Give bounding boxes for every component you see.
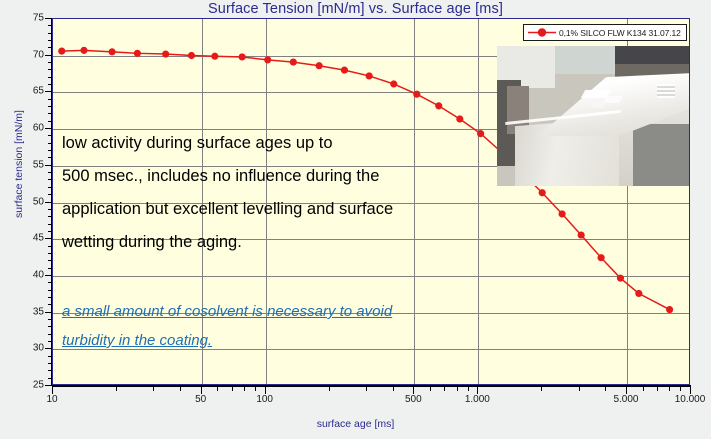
x-tick-mark-minor bbox=[680, 387, 681, 391]
legend-marker-icon bbox=[527, 27, 557, 38]
data-point-marker bbox=[80, 47, 87, 54]
data-point-marker bbox=[290, 58, 297, 65]
x-tick-mark-minor bbox=[468, 387, 469, 391]
y-tick-label: 45 bbox=[18, 233, 44, 244]
annotation-sub-line: turbidity in the coating. bbox=[62, 326, 522, 355]
x-tick-mark-minor bbox=[329, 387, 330, 391]
chart-legend: 0,1% SILCO FLW K134 31.07.12 bbox=[523, 24, 687, 41]
x-tick-mark bbox=[690, 387, 691, 394]
y-tick-mark bbox=[45, 202, 52, 203]
x-axis-spine bbox=[52, 385, 691, 387]
data-point-marker bbox=[435, 102, 442, 109]
data-point-marker bbox=[162, 50, 169, 57]
y-tick-label: 65 bbox=[18, 86, 44, 97]
y-tick-label: 35 bbox=[18, 306, 44, 317]
x-tick-label: 50 bbox=[195, 394, 206, 405]
x-tick-mark-minor bbox=[669, 387, 670, 391]
x-tick-mark bbox=[201, 387, 202, 394]
data-point-marker bbox=[341, 67, 348, 74]
y-tick-mark bbox=[45, 18, 52, 19]
data-point-marker bbox=[134, 50, 141, 57]
x-tick-mark-minor bbox=[116, 387, 117, 391]
data-point-marker bbox=[559, 210, 566, 217]
y-tick-label: 70 bbox=[18, 49, 44, 60]
data-point-marker bbox=[264, 56, 271, 63]
x-tick-mark-minor bbox=[366, 387, 367, 391]
data-point-marker bbox=[239, 53, 246, 60]
x-tick-label: 10.000 bbox=[675, 394, 706, 405]
x-tick-mark-minor bbox=[217, 387, 218, 391]
x-tick-mark bbox=[265, 387, 266, 394]
y-tick-label: 75 bbox=[18, 13, 44, 24]
annotation-sub-line: a small amount of cosolvent is necessary… bbox=[62, 297, 522, 326]
x-tick-mark-minor bbox=[605, 387, 606, 391]
x-tick-mark-minor bbox=[393, 387, 394, 391]
y-tick-mark bbox=[45, 91, 52, 92]
x-tick-mark-minor bbox=[579, 387, 580, 391]
data-point-marker bbox=[58, 48, 65, 55]
y-tick-label: 25 bbox=[18, 380, 44, 391]
y-tick-mark bbox=[45, 312, 52, 313]
x-tick-mark-minor bbox=[657, 387, 658, 391]
x-tick-mark-minor bbox=[232, 387, 233, 391]
x-tick-mark-minor bbox=[180, 387, 181, 391]
x-tick-mark-minor bbox=[457, 387, 458, 391]
photo-window-reflection bbox=[657, 84, 675, 98]
data-point-marker bbox=[188, 52, 195, 59]
data-point-marker bbox=[635, 290, 642, 297]
data-point-marker bbox=[413, 91, 420, 98]
annotation-main-line: low activity during surface ages up to bbox=[62, 127, 502, 160]
y-tick-mark bbox=[45, 128, 52, 129]
annotation-main-line: 500 msec., includes no influence during … bbox=[62, 160, 502, 193]
y-tick-mark bbox=[45, 385, 52, 386]
y-tick-mark bbox=[45, 238, 52, 239]
data-point-marker bbox=[617, 275, 624, 282]
x-tick-label: 500 bbox=[405, 394, 422, 405]
data-point-marker bbox=[666, 306, 673, 313]
data-point-marker bbox=[390, 80, 397, 87]
legend-entry-label: 0,1% SILCO FLW K134 31.07.12 bbox=[559, 28, 681, 38]
data-point-marker bbox=[316, 62, 323, 69]
x-tick-mark-minor bbox=[430, 387, 431, 391]
x-tick-label: 100 bbox=[256, 394, 273, 405]
y-tick-mark bbox=[45, 348, 52, 349]
data-point-marker bbox=[578, 231, 585, 238]
y-tick-mark bbox=[45, 165, 52, 166]
data-point-marker bbox=[366, 72, 373, 79]
x-tick-mark-minor bbox=[244, 387, 245, 391]
x-tick-mark bbox=[52, 387, 53, 394]
data-point-marker bbox=[539, 189, 546, 196]
x-tick-mark bbox=[626, 387, 627, 394]
data-point-marker bbox=[109, 48, 116, 55]
data-point-marker bbox=[211, 53, 218, 60]
x-tick-label: 10 bbox=[46, 394, 57, 405]
inset-photo-coated-panel bbox=[497, 46, 689, 186]
y-tick-mark bbox=[45, 55, 52, 56]
y-tick-label: 30 bbox=[18, 343, 44, 354]
x-tick-mark-minor bbox=[444, 387, 445, 391]
x-tick-mark-minor bbox=[153, 387, 154, 391]
page-title: Surface Tension [mN/m] vs. Surface age [… bbox=[0, 1, 711, 17]
x-tick-label: 1.000 bbox=[465, 394, 490, 405]
data-point-marker bbox=[456, 115, 463, 122]
photo-panel-side-inner bbox=[633, 124, 689, 186]
y-tick-mark bbox=[45, 275, 52, 276]
x-tick-mark bbox=[413, 387, 414, 394]
chart-screenshot: Surface Tension [mN/m] vs. Surface age [… bbox=[0, 0, 711, 439]
x-tick-label: 5.000 bbox=[613, 394, 638, 405]
y-axis-title: surface tension [mN/m] bbox=[13, 99, 25, 229]
data-point-marker bbox=[598, 254, 605, 261]
x-tick-mark-minor bbox=[255, 387, 256, 391]
x-axis-title: surface age [ms] bbox=[0, 418, 711, 430]
annotation-main-text: low activity during surface ages up to50… bbox=[62, 127, 502, 259]
annotation-main-line: application but excellent levelling and … bbox=[62, 193, 502, 226]
y-tick-label: 40 bbox=[18, 269, 44, 280]
x-tick-mark-minor bbox=[643, 387, 644, 391]
x-tick-mark bbox=[477, 387, 478, 394]
annotation-sub-text: a small amount of cosolvent is necessary… bbox=[62, 297, 522, 355]
x-tick-mark-minor bbox=[541, 387, 542, 391]
annotation-main-line: wetting during the aging. bbox=[62, 226, 502, 259]
